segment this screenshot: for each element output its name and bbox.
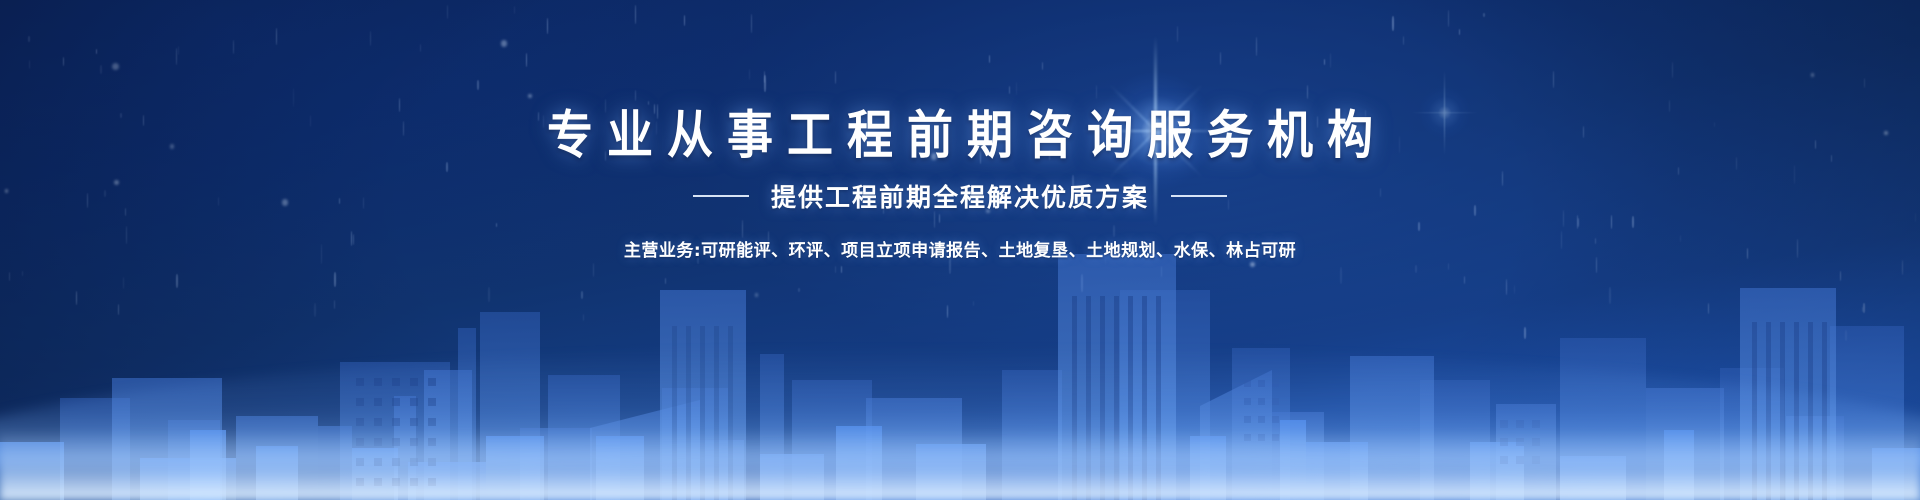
banner-subtitle: 提供工程前期全程解决优质方案 [771,178,1149,214]
banner-subtitle-row: 提供工程前期全程解决优质方案 [0,178,1920,214]
banner-content: 专业从事工程前期咨询服务机构 提供工程前期全程解决优质方案 主营业务:可研能评、… [0,0,1920,261]
banner-title: 专业从事工程前期咨询服务机构 [0,108,1920,162]
city-skyline-illustration [0,230,1920,500]
rule-left-icon [693,195,749,197]
banner-business-line: 主营业务:可研能评、环评、项目立项申请报告、土地复垦、土地规划、水保、林占可研 [0,236,1920,261]
hero-banner: 专业从事工程前期咨询服务机构 提供工程前期全程解决优质方案 主营业务:可研能评、… [0,0,1920,500]
rule-right-icon [1171,195,1227,197]
